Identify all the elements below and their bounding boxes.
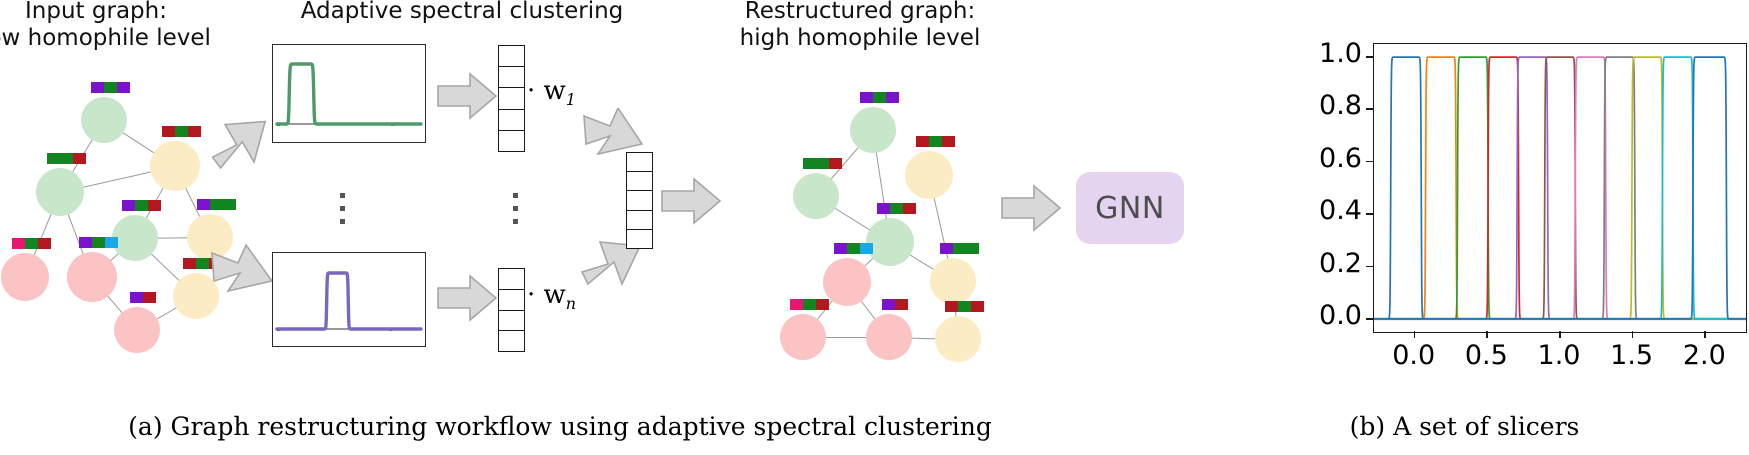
y-tick-mark [1366, 318, 1373, 320]
chart-series-slicer-1 [1374, 57, 1746, 319]
embedding-vector-last [498, 268, 525, 352]
feature-segment [162, 126, 175, 137]
vector-cell [499, 131, 524, 151]
graph-node [823, 258, 871, 306]
gnn-label: GNN [1095, 191, 1165, 226]
feature-segment [829, 158, 842, 169]
graph-node [150, 141, 200, 191]
x-tick-mark [1486, 331, 1488, 338]
node-feature-bar [197, 199, 236, 210]
feature-segment [945, 301, 958, 312]
gnn-box: GNN [1076, 172, 1184, 244]
arrow-graph-to-gnn [1000, 182, 1062, 234]
node-feature-bar [12, 238, 51, 249]
feature-segment [188, 126, 201, 137]
node-feature-bar [860, 92, 899, 103]
chart-series-slicer-7 [1374, 57, 1746, 319]
input-graph-title: Input graph: low homophile level [0, 0, 226, 52]
vector-cell [627, 211, 652, 230]
y-tick-label: 0.6 [1290, 143, 1362, 174]
node-feature-bar [945, 301, 984, 312]
feature-segment [953, 243, 966, 254]
slicer-plot-bottom [272, 252, 426, 347]
graph-node [905, 151, 953, 199]
aggregated-vector [626, 152, 653, 249]
feature-segment [175, 126, 188, 137]
y-tick-mark [1366, 213, 1373, 215]
feature-segment [47, 153, 60, 164]
feature-segment [890, 203, 903, 214]
graph-node [793, 173, 839, 219]
arrow-vector-to-restructured-graph [660, 175, 722, 227]
feature-segment [60, 153, 73, 164]
feature-segment [25, 238, 38, 249]
feature-segment [958, 301, 971, 312]
chart-series-slicer-2 [1374, 57, 1746, 319]
weight-label-last-sub: n [566, 294, 576, 313]
graph-node [36, 168, 84, 216]
node-feature-bar [790, 299, 829, 310]
x-tick-label: 2.0 [1664, 340, 1744, 371]
y-tick-mark [1366, 56, 1373, 58]
feature-segment [223, 199, 236, 210]
y-tick-mark [1366, 161, 1373, 163]
vector-cell [627, 172, 652, 191]
node-feature-bar [877, 203, 916, 214]
feature-segment [104, 82, 117, 93]
caption-a: (a) Graph restructuring workflow using a… [0, 412, 1120, 441]
chart-series-slicer-10 [1374, 57, 1746, 319]
node-feature-bar [130, 292, 156, 303]
x-tick-label: 0.0 [1374, 340, 1454, 371]
feature-segment [803, 299, 816, 310]
feature-segment [816, 299, 829, 310]
weight-label-first-text: · w [527, 76, 566, 106]
feature-segment [38, 238, 51, 249]
feature-segment [971, 301, 984, 312]
feature-segment [860, 92, 873, 103]
weight-label-last: · wn [527, 280, 576, 313]
vector-cell [499, 331, 524, 351]
adaptive-spectral-clustering-title: Adaptive spectral clustering [262, 0, 662, 25]
vector-cell [627, 191, 652, 210]
node-feature-bar [47, 153, 86, 164]
feature-segment [873, 92, 886, 103]
restructured-graph-title: Restructured graph: high homophile level [660, 0, 1060, 52]
node-feature-bar [91, 82, 130, 93]
vector-cell [499, 67, 524, 88]
feature-segment [130, 292, 143, 303]
node-feature-bar [882, 299, 908, 310]
feature-segment [91, 82, 104, 93]
node-feature-bar [122, 200, 161, 211]
feature-segment [92, 237, 105, 248]
chart-series-slicer-11 [1374, 57, 1746, 319]
arrow-bottom-slicer-to-vector [436, 272, 498, 324]
chart-series-slicer-6 [1374, 57, 1746, 319]
x-tick-mark [1632, 331, 1634, 338]
x-tick-mark [1414, 331, 1416, 338]
feature-segment [148, 200, 161, 211]
node-feature-bar [916, 136, 955, 147]
feature-segment [816, 158, 829, 169]
feature-segment [940, 243, 953, 254]
graph-node [81, 97, 127, 143]
feature-segment [929, 136, 942, 147]
y-tick-label: 0.2 [1290, 248, 1362, 279]
caption-b: (b) A set of slicers [1180, 412, 1749, 441]
y-tick-label: 0.0 [1290, 300, 1362, 331]
node-feature-bar [834, 243, 873, 254]
vector-cell [627, 153, 652, 172]
ellipsis-vectors [513, 193, 518, 224]
chart-series-slicer-8 [1374, 57, 1746, 319]
slicer-plot-top [272, 44, 426, 143]
graph-node [67, 252, 117, 302]
feature-segment [886, 92, 899, 103]
feature-segment [73, 153, 86, 164]
graph-node [112, 215, 158, 261]
feature-segment [122, 200, 135, 211]
node-feature-bar [940, 243, 979, 254]
y-tick-label: 0.8 [1290, 90, 1362, 121]
weight-label-first: · w1 [527, 76, 576, 109]
graph-node [935, 316, 981, 362]
feature-segment [79, 237, 92, 248]
feature-segment [105, 237, 118, 248]
x-tick-label: 1.5 [1592, 340, 1672, 371]
x-tick-mark [1559, 331, 1561, 338]
feature-segment [966, 243, 979, 254]
feature-segment [197, 199, 210, 210]
vector-cell [499, 290, 524, 311]
feature-segment [12, 238, 25, 249]
feature-segment [210, 199, 223, 210]
feature-segment [790, 299, 803, 310]
arrow-to-top-slicer [206, 108, 276, 172]
slicers-plot-frame [1373, 43, 1747, 333]
vector-cell [499, 311, 524, 332]
y-tick-mark [1366, 108, 1373, 110]
x-tick-mark [1704, 331, 1706, 338]
graph-node [114, 307, 160, 353]
feature-segment [135, 200, 148, 211]
feature-segment [143, 292, 156, 303]
y-tick-mark [1366, 266, 1373, 268]
feature-segment [877, 203, 890, 214]
arrow-to-bottom-slicer [206, 243, 276, 307]
slicers-chart [1374, 44, 1746, 332]
feature-segment [803, 158, 816, 169]
feature-segment [860, 243, 873, 254]
feature-segment [916, 136, 929, 147]
vector-cell [499, 88, 524, 109]
node-feature-bar [803, 158, 842, 169]
chart-series-slicer-4 [1374, 57, 1746, 319]
graph-node [866, 314, 912, 360]
chart-series-slicer-5 [1374, 57, 1746, 319]
feature-segment [903, 203, 916, 214]
feature-segment [882, 299, 895, 310]
y-tick-label: 1.0 [1290, 38, 1362, 69]
weight-label-last-text: · w [527, 280, 566, 310]
graph-node [930, 258, 976, 304]
graph-node [850, 107, 896, 153]
vector-cell [499, 46, 524, 67]
y-tick-label: 0.4 [1290, 195, 1362, 226]
graph-node [1, 253, 49, 301]
graph-node [866, 218, 914, 266]
panel-b-slicers: 0.00.20.40.60.81.0 0.00.51.01.52.0 [1180, 0, 1749, 400]
vector-cell [499, 269, 524, 290]
embedding-vector-first [498, 45, 525, 152]
feature-segment [117, 82, 130, 93]
weight-label-first-sub: 1 [566, 90, 576, 109]
chart-series-slicer-3 [1374, 57, 1746, 319]
feature-segment [834, 243, 847, 254]
node-feature-bar [79, 237, 118, 248]
node-feature-bar [162, 126, 201, 137]
vector-cell [499, 110, 524, 131]
x-tick-label: 0.5 [1446, 340, 1526, 371]
feature-segment [847, 243, 860, 254]
feature-segment [942, 136, 955, 147]
arrow-top-slicer-to-vector [436, 70, 498, 122]
x-tick-label: 1.0 [1519, 340, 1599, 371]
graph-node [780, 314, 826, 360]
panel-a-workflow: Input graph: low homophile level Adaptiv… [0, 0, 1160, 400]
chart-series-slicer-9 [1374, 57, 1746, 319]
feature-segment [895, 299, 908, 310]
feature-segment [183, 258, 196, 269]
ellipsis-plots [340, 193, 345, 224]
vector-cell [627, 230, 652, 248]
